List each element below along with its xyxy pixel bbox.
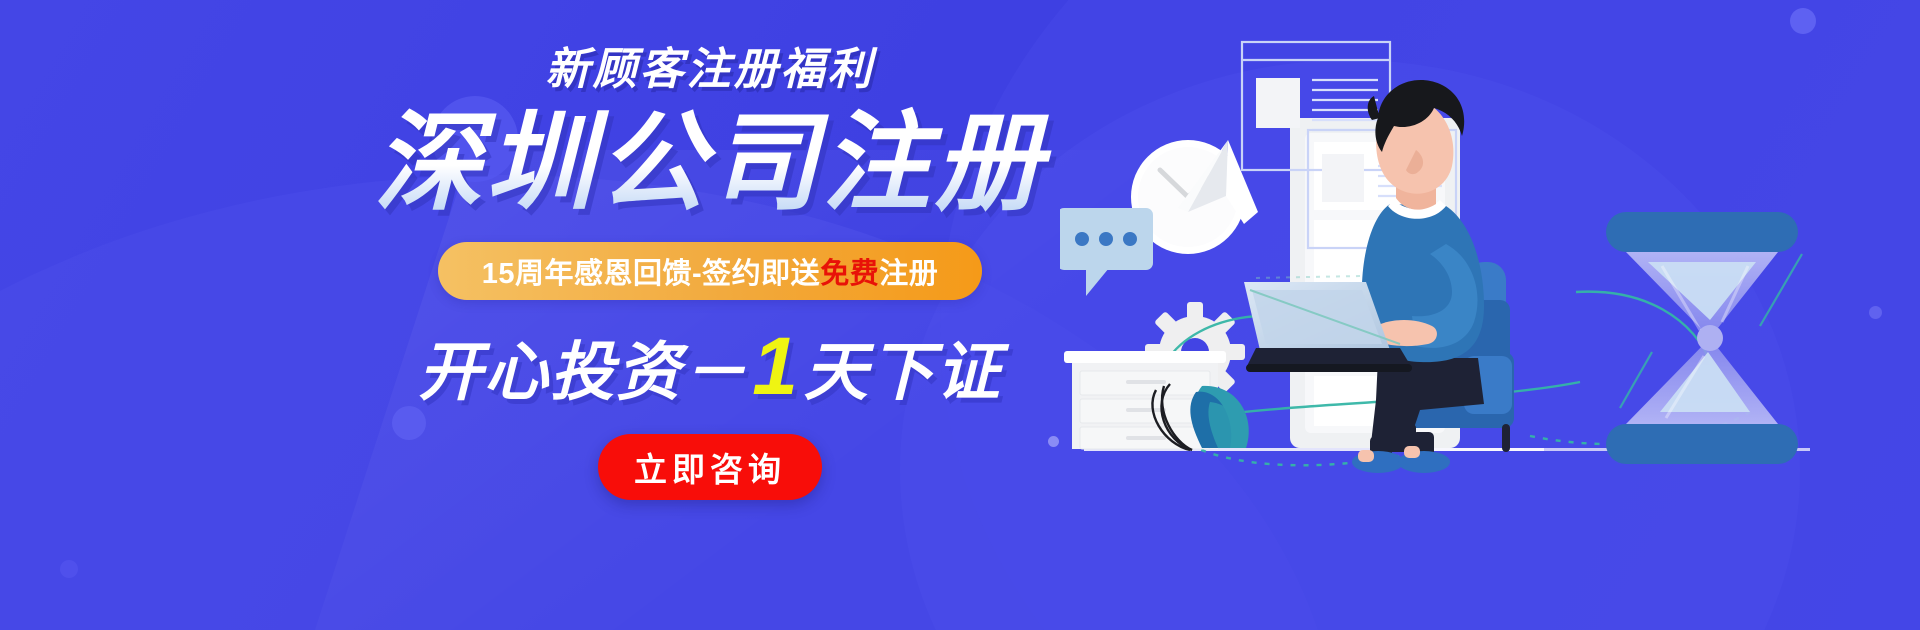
promo-pill-highlight: 免费	[820, 250, 879, 292]
accent-bars	[1598, 208, 1806, 252]
consult-now-button[interactable]: 立即咨询	[598, 434, 822, 500]
promo-pill-suffix: 注册	[879, 250, 938, 292]
banner-copy: 新顾客注册福利 深圳公司注册 15周年感恩回馈-签约即送免费注册 开心投资－1天…	[330, 48, 1090, 500]
hero-illustration	[1060, 0, 1920, 630]
promo-pill-prefix: 15周年感恩回馈-签约即送	[482, 250, 820, 292]
slogan-text: 开心投资－1天下证	[330, 326, 1090, 408]
slogan-number: 1	[748, 321, 804, 412]
page-title: 深圳公司注册	[330, 106, 1090, 220]
eyebrow-text: 新顾客注册福利	[330, 48, 1090, 92]
promo-pill: 15周年感恩回馈-签约即送免费注册	[438, 242, 982, 300]
decorative-circle-bottom-left	[60, 560, 78, 578]
slogan-before: 开心投资－	[418, 336, 748, 408]
slogan-after: 天下证	[804, 336, 1002, 408]
promo-banner: 新顾客注册福利 深圳公司注册 15周年感恩回馈-签约即送免费注册 开心投资－1天…	[0, 0, 1920, 630]
